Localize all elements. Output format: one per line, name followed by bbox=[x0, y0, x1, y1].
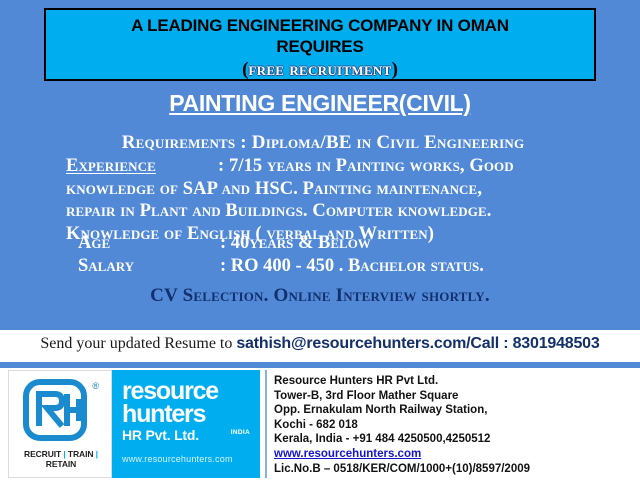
brand-line-2: hunters bbox=[122, 403, 252, 426]
license-number: Lic.No.B – 0518/KER/COM/1000+(10)/8597/2… bbox=[274, 462, 565, 477]
address-line-2: Tower-B, 3rd Floor Mather Square bbox=[274, 389, 565, 404]
rh-monogram-wrap: ® bbox=[23, 379, 97, 443]
footer: ® RECRUIT | TRAIN | RETAIN resource hunt… bbox=[0, 368, 640, 485]
recruitment-poster: A LEADING ENGINEERING COMPANY IN OMAN RE… bbox=[0, 0, 640, 485]
detail-row-salary: Salary: RO 400 - 450 . Bachelor status. bbox=[78, 255, 640, 278]
detail-key-salary: Salary bbox=[78, 255, 220, 278]
contact-banner-email[interactable]: sathish@resourcehunters.com/Call : 83019… bbox=[236, 335, 599, 352]
logo-tagline: RECRUIT | TRAIN | RETAIN bbox=[9, 449, 113, 469]
tagline-train: TRAIN bbox=[68, 449, 93, 459]
experience-row: Experience: 7/15 years in Painting works… bbox=[66, 155, 612, 178]
tagline-separator-2: | bbox=[93, 449, 98, 459]
address-line-1: Resource Hunters HR Pvt Ltd. bbox=[274, 374, 565, 389]
requirements-body-line-2: knowledge of SAP and HSC. Painting maint… bbox=[66, 178, 612, 201]
brand-website: www.resourcehunters.com bbox=[122, 454, 252, 464]
experience-value: : 7/15 years in Painting works, Good bbox=[218, 156, 514, 176]
tagline-separator-1: | bbox=[61, 449, 68, 459]
header-line-2: REQUIRES bbox=[46, 36, 594, 57]
brand-subtitle: HR Pvt. Ltd.INDIA bbox=[122, 426, 252, 444]
main-blue-panel: A LEADING ENGINEERING COMPANY IN OMAN RE… bbox=[0, 0, 640, 330]
cv-selection-note: CV Selection. Online Interview shortly. bbox=[0, 285, 640, 307]
contact-banner: Send your updated Resume to sathish@reso… bbox=[0, 330, 640, 362]
requirements-body-line-3: repair in Plant and Buildings. Computer … bbox=[66, 200, 612, 223]
free-recruitment-line: (Free Recruitment) bbox=[46, 59, 594, 81]
brand-panel: resource hunters HR Pvt. Ltd.INDIA www.r… bbox=[112, 370, 260, 478]
brand-india-label: INDIA bbox=[231, 424, 250, 442]
requirements-block: Requirements : Diploma/BE in Civil Engin… bbox=[0, 131, 640, 245]
address-website-link[interactable]: www.resourcehunters.com bbox=[274, 447, 565, 462]
requirements-line: Requirements : Diploma/BE in Civil Engin… bbox=[0, 131, 640, 155]
detail-value-salary: : RO 400 - 450 . Bachelor status. bbox=[220, 255, 484, 278]
experience-label: Experience bbox=[66, 155, 218, 178]
address-block: Resource Hunters HR Pvt Ltd. Tower-B, 3r… bbox=[265, 370, 565, 478]
header-announcement-box: A LEADING ENGINEERING COMPANY IN OMAN RE… bbox=[44, 8, 596, 81]
tagline-retain: RETAIN bbox=[46, 459, 76, 469]
address-line-3: Opp. Ernakulam North Railway Station, bbox=[274, 403, 565, 418]
address-line-5: Kerala, India - +91 484 4250500,4250512 bbox=[274, 432, 565, 447]
detail-key-age: Age bbox=[78, 232, 220, 255]
job-title: PAINTING ENGINEER(CIVIL) bbox=[0, 90, 640, 117]
registered-trademark-icon: ® bbox=[92, 381, 99, 391]
contact-banner-prefix: Send your updated Resume to bbox=[40, 335, 236, 352]
brand-subtitle-text: HR Pvt. Ltd. bbox=[122, 427, 199, 443]
tagline-recruit: RECRUIT bbox=[24, 449, 61, 459]
detail-value-age: : 40years & Below bbox=[220, 232, 371, 255]
header-line-1: A LEADING ENGINEERING COMPANY IN OMAN bbox=[46, 15, 594, 36]
paren-close: ) bbox=[392, 59, 398, 80]
logo-mark-panel: ® RECRUIT | TRAIN | RETAIN bbox=[8, 370, 112, 478]
detail-row-age: Age: 40years & Below bbox=[78, 232, 640, 255]
rh-monogram-icon bbox=[23, 379, 91, 441]
free-recruitment-text: Free Recruitment bbox=[248, 59, 391, 80]
address-line-4: Kochi - 682 018 bbox=[274, 418, 565, 433]
detail-rows: Age: 40years & Below Salary: RO 400 - 45… bbox=[0, 232, 640, 277]
